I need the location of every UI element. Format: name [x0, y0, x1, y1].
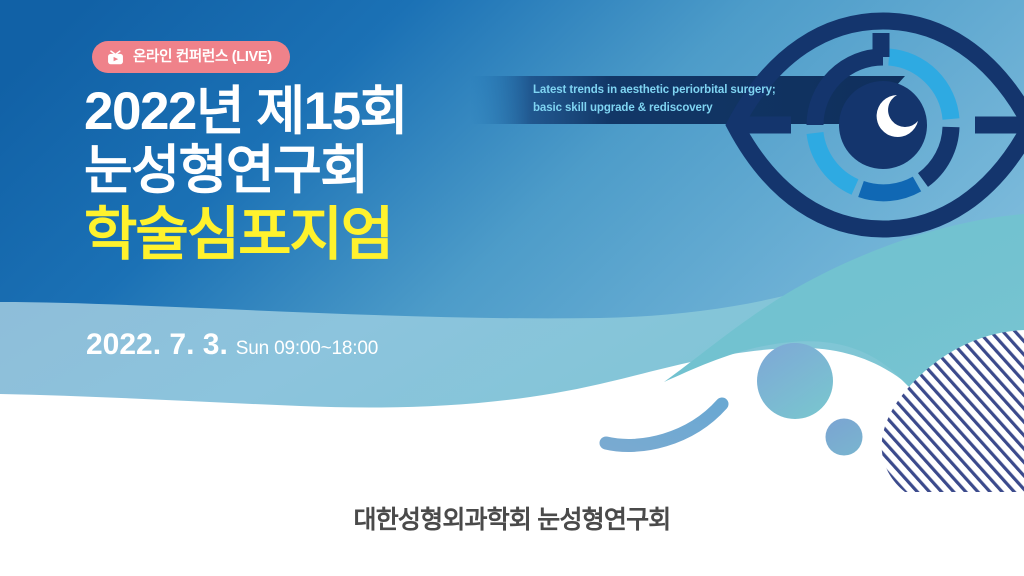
- title-line-3: 학술심포지엄: [84, 203, 554, 268]
- live-badge-label: 온라인 컨퍼런스 (LIVE): [133, 50, 272, 65]
- event-date: 2022. 7. 3. Sun 09:00~18:00: [86, 330, 378, 360]
- event-date-main: 2022. 7. 3.: [86, 330, 228, 360]
- english-subtitle: Latest trends in aesthetic periorbital s…: [533, 82, 813, 118]
- small-circle-decoration: [826, 419, 863, 456]
- live-badge[interactable]: 온라인 컨퍼런스 (LIVE): [92, 41, 290, 73]
- english-subtitle-line-1: Latest trends in aesthetic periorbital s…: [533, 82, 813, 100]
- large-circle-decoration: [757, 343, 833, 419]
- conference-poster: 온라인 컨퍼런스 (LIVE) 2022년 제15회 눈성형연구회 학술심포지엄…: [0, 0, 1024, 576]
- title-line-2: 눈성형연구회: [84, 141, 554, 200]
- title-line-1: 2022년 제15회: [84, 82, 554, 141]
- english-subtitle-line-2: basic skill upgrade & rediscovery: [533, 100, 813, 118]
- event-date-detail: Sun 09:00~18:00: [236, 339, 378, 358]
- tv-broadcast-icon: [106, 48, 125, 67]
- poster-title: 2022년 제15회 눈성형연구회 학술심포지엄: [84, 82, 554, 268]
- footer-organization: 대한성형외과학회 눈성형연구회: [0, 500, 1024, 536]
- iris-segment-mid-lower: [861, 184, 917, 193]
